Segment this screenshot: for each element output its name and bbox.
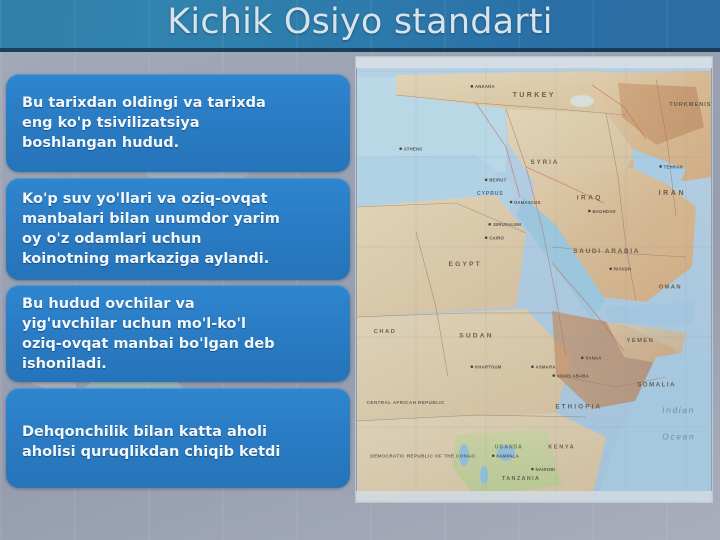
map-label: ASMARA — [536, 365, 556, 370]
map-label: CYPRUS — [477, 191, 503, 197]
map-label: TANZANIA — [502, 476, 540, 482]
map-image: TURKEYTURKMENISTANSYRIACYPRUSIRAQIRANEGY… — [356, 57, 712, 502]
map-label: IRAN — [659, 190, 687, 197]
map-city-dot — [488, 223, 491, 226]
map-label: Indian — [662, 405, 695, 415]
map-city-dot — [471, 365, 474, 368]
map-city-dot — [609, 268, 612, 271]
map-label: SYRIA — [530, 159, 559, 166]
map-label: ANKARA — [475, 84, 495, 89]
map-label: CHAD — [374, 329, 397, 335]
map-city-dot — [399, 147, 402, 150]
map-label: IRAQ — [577, 194, 603, 201]
content-box-text: Bu tarixdan oldingi va tarixda eng ko'p … — [22, 93, 266, 153]
map-city-dot — [485, 236, 488, 239]
map-label: SANAA — [585, 356, 601, 361]
map-label: OMAN — [659, 284, 682, 290]
map-city-dot — [552, 374, 555, 377]
content-box[interactable]: Dehqonchilik bilan katta aholi aholisi q… — [6, 388, 350, 488]
map-label: JERUSALEM — [493, 222, 522, 227]
map-label: DEMOCRATIC REPUBLIC OF THE CONGO — [370, 454, 475, 459]
map-label: BAGHDAD — [592, 209, 615, 214]
map-label: RIYADH — [614, 267, 631, 272]
map-city-dot — [471, 85, 474, 88]
map-label: EGYPT — [449, 261, 482, 268]
content-box[interactable]: Bu hudud ovchilar va yig'uvchilar uchun … — [6, 285, 350, 382]
map-city-dot — [492, 454, 495, 457]
content-box-text: Bu hudud ovchilar va yig'uvchilar uchun … — [22, 294, 275, 374]
content-box[interactable]: Bu tarixdan oldingi va tarixda eng ko'p … — [6, 74, 350, 172]
slide-root: S Kichik Osiyo standarti — [0, 0, 720, 540]
map-label: YEMEN — [627, 338, 655, 344]
map-label: ADDIS ABABA — [557, 373, 589, 378]
content-box[interactable]: Ko'p suv yo'llari va oziq-ovqat manbalar… — [6, 178, 350, 280]
map-label: Ocean — [662, 432, 695, 442]
map-label: KAMPALA — [496, 454, 519, 459]
map-city-dot — [510, 201, 513, 204]
map-label: SAUDI ARABIA — [573, 248, 640, 255]
map-label: SOMALIA — [637, 382, 676, 388]
map-city-dot — [588, 210, 591, 213]
map-canvas: TURKEYTURKMENISTANSYRIACYPRUSIRAQIRANEGY… — [356, 57, 712, 502]
map-city-dot — [485, 179, 488, 182]
map-label: ETHIOPIA — [555, 404, 602, 411]
map-city-dot — [659, 165, 662, 168]
map-label: BEIRUT — [489, 178, 506, 183]
map-label: UGANDA — [495, 445, 523, 451]
map-label: TURKMENISTAN — [669, 102, 712, 108]
map-label: SUDAN — [459, 332, 493, 339]
page-title: Kichik Osiyo standarti — [0, 2, 720, 42]
map-city-dot — [531, 468, 534, 471]
map-city-dot — [531, 365, 534, 368]
map-label: CENTRAL AFRICAN REPUBLIC — [367, 400, 445, 405]
map-label: NAIROBI — [536, 467, 556, 472]
map-label: KHARTOUM — [475, 365, 502, 370]
map-label: TEHRAN — [664, 164, 683, 169]
map-city-dot — [581, 357, 584, 360]
map-label: ATHENS — [404, 146, 423, 151]
map-label: KENYA — [548, 445, 575, 451]
title-band: Kichik Osiyo standarti — [0, 0, 720, 52]
content-box-text: Dehqonchilik bilan katta aholi aholisi q… — [22, 422, 280, 462]
map-label: DAMASCUS — [514, 200, 540, 205]
map-label: TURKEY — [513, 92, 556, 99]
content-box-text: Ko'p suv yo'llari va oziq-ovqat manbalar… — [22, 189, 280, 269]
map-label: CAIRO — [489, 235, 504, 240]
